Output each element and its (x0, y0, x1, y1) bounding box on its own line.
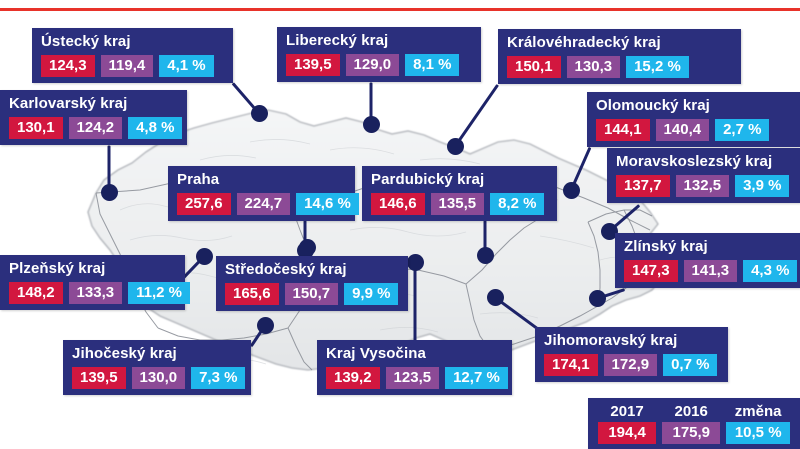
region-values: 144,1140,42,7 % (596, 119, 791, 141)
region-values: 139,5129,08,1 % (286, 54, 472, 76)
map-marker-dot[interactable] (363, 116, 380, 133)
region-value-2016: 130,0 (132, 367, 186, 389)
region-value-2017: 139,2 (326, 367, 380, 389)
region-value-2017: 124,3 (41, 55, 95, 77)
map-marker-dot[interactable] (447, 138, 464, 155)
region-value-change: 4,3 % (743, 260, 797, 282)
region-value-2017: 148,2 (9, 282, 63, 304)
region-label-box[interactable]: Královéhradecký kraj150,1130,315,2 % (498, 29, 741, 84)
map-marker-dot[interactable] (589, 290, 606, 307)
region-value-change: 3,9 % (735, 175, 789, 197)
legend-value-2016: 175,9 (662, 422, 720, 444)
legend-box: 2017 2016 změna 194,4 175,9 10,5 % (588, 398, 800, 449)
legend-value-2017: 194,4 (598, 422, 656, 444)
region-values: 139,5130,07,3 % (72, 367, 242, 389)
legend-values: 194,4 175,9 10,5 % (598, 422, 790, 444)
region-value-2017: 174,1 (544, 354, 598, 376)
region-name: Karlovarský kraj (9, 95, 178, 113)
map-marker-dot[interactable] (101, 184, 118, 201)
region-values: 148,2133,311,2 % (9, 282, 176, 304)
region-name: Středočeský kraj (225, 261, 399, 279)
region-values: 165,6150,79,9 % (225, 283, 399, 305)
region-value-2017: 144,1 (596, 119, 650, 141)
region-name: Praha (177, 171, 346, 189)
region-name: Olomoucký kraj (596, 97, 791, 115)
region-value-2016: 224,7 (237, 193, 291, 215)
region-name: Zlínský kraj (624, 238, 791, 256)
region-value-2016: 124,2 (69, 117, 123, 139)
region-value-change: 14,6 % (296, 193, 359, 215)
map-marker-dot[interactable] (407, 254, 424, 271)
region-value-change: 7,3 % (191, 367, 245, 389)
region-value-2016: 150,7 (285, 283, 339, 305)
top-accent-rule (0, 8, 800, 11)
region-value-2016: 123,5 (386, 367, 440, 389)
region-value-2016: 133,3 (69, 282, 123, 304)
region-label-box[interactable]: Olomoucký kraj144,1140,42,7 % (587, 92, 800, 147)
region-value-2017: 130,1 (9, 117, 63, 139)
region-value-2016: 119,4 (101, 55, 154, 77)
region-value-2016: 130,3 (567, 56, 621, 78)
region-value-2017: 147,3 (624, 260, 678, 282)
region-name: Ústecký kraj (41, 33, 224, 51)
region-value-2016: 132,5 (676, 175, 730, 197)
map-marker-dot[interactable] (257, 317, 274, 334)
region-values: 174,1172,90,7 % (544, 354, 719, 376)
region-value-2016: 141,3 (684, 260, 738, 282)
region-label-box[interactable]: Praha257,6224,714,6 % (168, 166, 355, 221)
map-marker-dot[interactable] (477, 247, 494, 264)
region-name: Liberecký kraj (286, 32, 472, 50)
region-name: Královéhradecký kraj (507, 34, 732, 52)
connector-line (414, 262, 417, 342)
region-value-change: 8,1 % (405, 54, 459, 76)
map-marker-dot[interactable] (196, 248, 213, 265)
region-label-box[interactable]: Zlínský kraj147,3141,34,3 % (615, 233, 800, 288)
region-value-change: 0,7 % (663, 354, 717, 376)
region-label-box[interactable]: Moravskoslezský kraj137,7132,53,9 % (607, 148, 800, 203)
region-label-box[interactable]: Středočeský kraj165,6150,79,9 % (216, 256, 408, 311)
map-marker-dot[interactable] (251, 105, 268, 122)
map-marker-dot[interactable] (299, 239, 316, 256)
region-value-change: 8,2 % (490, 193, 544, 215)
region-label-box[interactable]: Jihočeský kraj139,5130,07,3 % (63, 340, 251, 395)
region-values: 139,2123,512,7 % (326, 367, 503, 389)
region-value-2017: 137,7 (616, 175, 670, 197)
region-value-2017: 150,1 (507, 56, 561, 78)
region-value-change: 9,9 % (344, 283, 398, 305)
region-name: Jihomoravský kraj (544, 332, 719, 350)
region-label-box[interactable]: Jihomoravský kraj174,1172,90,7 % (535, 327, 728, 382)
legend-value-change: 10,5 % (726, 422, 790, 444)
region-values: 147,3141,34,3 % (624, 260, 791, 282)
region-value-change: 12,7 % (445, 367, 508, 389)
legend-header-change: změna (726, 402, 790, 422)
region-label-box[interactable]: Ústecký kraj124,3119,44,1 % (32, 28, 233, 83)
region-value-2016: 129,0 (346, 54, 400, 76)
region-values: 257,6224,714,6 % (177, 193, 346, 215)
region-value-change: 4,8 % (128, 117, 182, 139)
region-name: Pardubický kraj (371, 171, 548, 189)
region-value-2016: 140,4 (656, 119, 710, 141)
region-values: 130,1124,24,8 % (9, 117, 178, 139)
region-value-2016: 172,9 (604, 354, 658, 376)
map-marker-dot[interactable] (487, 289, 504, 306)
region-value-2017: 146,6 (371, 193, 425, 215)
region-values: 146,6135,58,2 % (371, 193, 548, 215)
legend-headers: 2017 2016 změna (598, 402, 790, 422)
region-label-box[interactable]: Pardubický kraj146,6135,58,2 % (362, 166, 557, 221)
legend-header-2016: 2016 (662, 402, 720, 422)
region-label-box[interactable]: Karlovarský kraj130,1124,24,8 % (0, 90, 187, 145)
region-value-2017: 139,5 (72, 367, 126, 389)
region-value-change: 11,2 % (128, 282, 190, 304)
region-label-box[interactable]: Kraj Vysočina139,2123,512,7 % (317, 340, 512, 395)
region-name: Kraj Vysočina (326, 345, 503, 363)
region-values: 150,1130,315,2 % (507, 56, 732, 78)
region-value-2017: 165,6 (225, 283, 279, 305)
region-value-2016: 135,5 (431, 193, 485, 215)
region-name: Jihočeský kraj (72, 345, 242, 363)
region-value-2017: 139,5 (286, 54, 340, 76)
region-name: Plzeňský kraj (9, 260, 176, 278)
region-value-2017: 257,6 (177, 193, 231, 215)
region-value-change: 2,7 % (715, 119, 769, 141)
region-value-change: 4,1 % (159, 55, 213, 77)
region-values: 137,7132,53,9 % (616, 175, 791, 197)
infographic-canvas: Ústecký kraj124,3119,44,1 %Liberecký kra… (0, 0, 800, 449)
region-value-change: 15,2 % (626, 56, 689, 78)
legend-header-2017: 2017 (598, 402, 656, 422)
region-name: Moravskoslezský kraj (616, 153, 791, 171)
region-label-box[interactable]: Liberecký kraj139,5129,08,1 % (277, 27, 481, 82)
region-label-box[interactable]: Plzeňský kraj148,2133,311,2 % (0, 255, 185, 310)
region-values: 124,3119,44,1 % (41, 55, 224, 77)
map-marker-dot[interactable] (563, 182, 580, 199)
